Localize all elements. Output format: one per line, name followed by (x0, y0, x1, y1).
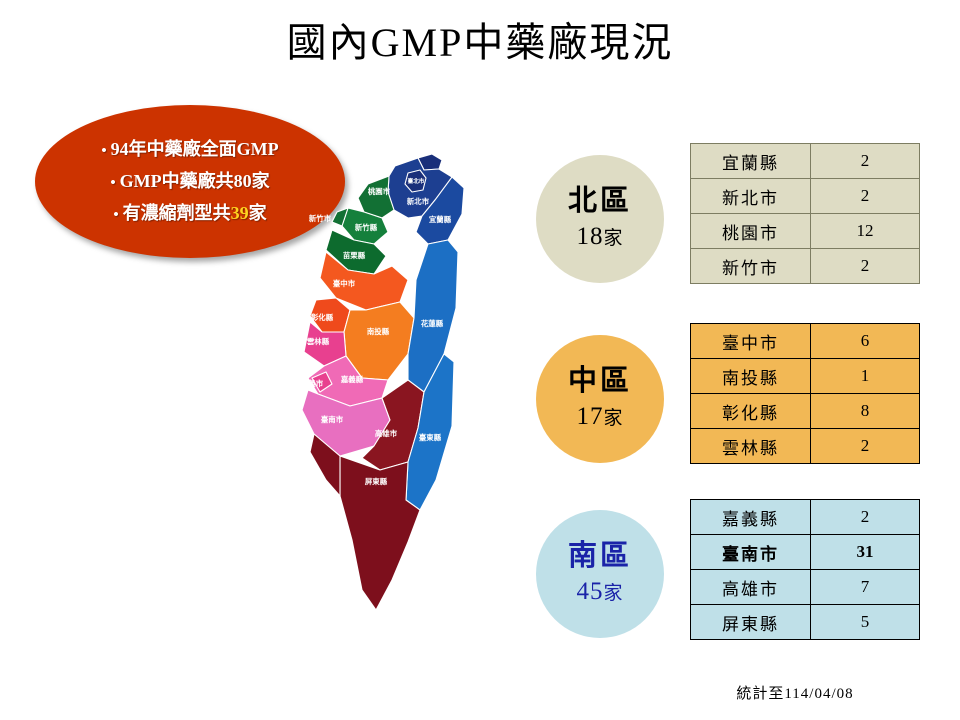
north-table-body: 宜蘭縣2新北市2桃園市12新竹市2 (691, 144, 920, 284)
table-row: 桃園市12 (691, 214, 920, 249)
table-cell-count: 2 (811, 429, 920, 464)
region-name-central: 中區 (568, 362, 632, 400)
central-table-body: 臺中市6南投縣1彰化縣8雲林縣2 (691, 324, 920, 464)
map-label-yilan: 宜蘭縣 (429, 215, 452, 224)
table-cell-county: 宜蘭縣 (691, 144, 811, 179)
region-count-north: 18家 (576, 220, 623, 256)
table-row: 彰化縣8 (691, 394, 920, 429)
table-row: 高雄市7 (691, 570, 920, 605)
map-label-yunlin: 雲林縣 (307, 337, 330, 346)
table-row: 宜蘭縣2 (691, 144, 920, 179)
region-count-north-unit: 家 (603, 228, 623, 249)
bullet-icon: • (101, 143, 110, 159)
map-label-miaoli: 苗栗縣 (343, 251, 366, 260)
table-cell-count: 2 (811, 144, 920, 179)
table-cell-count: 1 (811, 359, 920, 394)
table-cell-count: 31 (811, 535, 920, 570)
map-label-taichung: 臺中市 (333, 279, 356, 288)
table-cell-county: 屏東縣 (691, 605, 811, 640)
region-count-south-value: 45 (576, 578, 603, 605)
table-cell-count: 2 (811, 249, 920, 284)
north-region-table: 宜蘭縣2新北市2桃園市12新竹市2 (690, 143, 920, 284)
table-cell-county: 臺南市 (691, 535, 811, 570)
region-name-north: 北區 (568, 182, 632, 220)
table-row: 新竹市2 (691, 249, 920, 284)
table-cell-count: 8 (811, 394, 920, 429)
map-label-kaohsiung: 高雄市 (375, 429, 398, 438)
map-label-taitung: 臺東縣 (419, 433, 442, 442)
map-label-changhua: 彰化縣 (311, 313, 334, 322)
map-label-pingtung: 屏東縣 (364, 477, 388, 486)
table-cell-count: 6 (811, 324, 920, 359)
map-label-taipei: 臺北市 (408, 177, 425, 185)
page-title: 國內GMP中藥廠現況 (0, 18, 960, 68)
region-count-south-unit: 家 (603, 583, 623, 604)
callout-line-3-prefix: 有濃縮劑型共 (123, 203, 231, 223)
callout-line-2-text: GMP中藥廠共80家 (120, 171, 270, 191)
table-row: 臺南市31 (691, 535, 920, 570)
table-row: 臺中市6 (691, 324, 920, 359)
table-row: 屏東縣5 (691, 605, 920, 640)
table-cell-county: 桃園市 (691, 214, 811, 249)
slide-canvas: 國內GMP中藥廠現況 •94年中藥廠全面GMP •GMP中藥廠共80家 •有濃縮… (0, 0, 960, 720)
map-label-chiayi-city: 嘉義市 (300, 379, 324, 388)
map-label-hualien: 花蓮縣 (421, 319, 444, 328)
map-label-chiayi-county: 嘉義縣 (340, 375, 364, 384)
table-row: 嘉義縣2 (691, 500, 920, 535)
callout-line-3-suffix: 家 (249, 203, 267, 223)
map-label-hsinchu-county: 新竹縣 (355, 223, 378, 232)
table-cell-count: 12 (811, 214, 920, 249)
region-badge-central[interactable]: 中區 17家 (536, 335, 664, 463)
region-count-central-unit: 家 (603, 408, 623, 429)
map-label-new-taipei: 新北市 (407, 197, 430, 206)
callout-line-3: •有濃縮劑型共39家 (113, 198, 266, 230)
bullet-icon: • (113, 207, 122, 223)
taiwan-map: 基隆市 臺北市 新北市 桃園市 新竹市 新竹縣 苗栗縣 宜蘭縣 臺中市 彰化縣 … (296, 140, 496, 640)
table-cell-county: 南投縣 (691, 359, 811, 394)
table-cell-county: 彰化縣 (691, 394, 811, 429)
table-cell-county: 嘉義縣 (691, 500, 811, 535)
region-name-south: 南區 (568, 537, 632, 575)
map-label-keelung: 基隆市 (447, 157, 471, 166)
table-cell-county: 新竹市 (691, 249, 811, 284)
south-table-body: 嘉義縣2臺南市31高雄市7屏東縣5 (691, 500, 920, 640)
table-row: 南投縣1 (691, 359, 920, 394)
central-region-table: 臺中市6南投縣1彰化縣8雲林縣2 (690, 323, 920, 464)
table-cell-county: 新北市 (691, 179, 811, 214)
region-badge-north[interactable]: 北區 18家 (536, 155, 664, 283)
table-cell-count: 2 (811, 500, 920, 535)
south-region-table: 嘉義縣2臺南市31高雄市7屏東縣5 (690, 499, 920, 640)
table-row: 雲林縣2 (691, 429, 920, 464)
table-cell-county: 雲林縣 (691, 429, 811, 464)
table-cell-count: 7 (811, 570, 920, 605)
callout-line-1-text: 94年中藥廠全面GMP (111, 139, 279, 159)
region-count-central-value: 17 (576, 403, 603, 430)
statistics-date-footer: 統計至114/04/08 (660, 682, 930, 703)
table-cell-county: 臺中市 (691, 324, 811, 359)
region-count-south: 45家 (576, 575, 623, 611)
table-cell-count: 5 (811, 605, 920, 640)
table-cell-count: 2 (811, 179, 920, 214)
map-label-tainan: 臺南市 (321, 415, 344, 424)
region-count-central: 17家 (576, 400, 623, 436)
map-label-nantou: 南投縣 (367, 327, 390, 336)
callout-line-1: •94年中藥廠全面GMP (101, 134, 278, 166)
map-label-hsinchu-city: 新竹市 (309, 214, 332, 223)
callout-line-2: •GMP中藥廠共80家 (110, 166, 269, 198)
region-count-north-value: 18 (576, 223, 603, 250)
bullet-icon: • (110, 175, 119, 191)
region-badge-south[interactable]: 南區 45家 (536, 510, 664, 638)
callout-highlight-value: 39 (231, 203, 249, 223)
table-cell-county: 高雄市 (691, 570, 811, 605)
table-row: 新北市2 (691, 179, 920, 214)
map-label-taoyuan: 桃園市 (368, 187, 391, 196)
